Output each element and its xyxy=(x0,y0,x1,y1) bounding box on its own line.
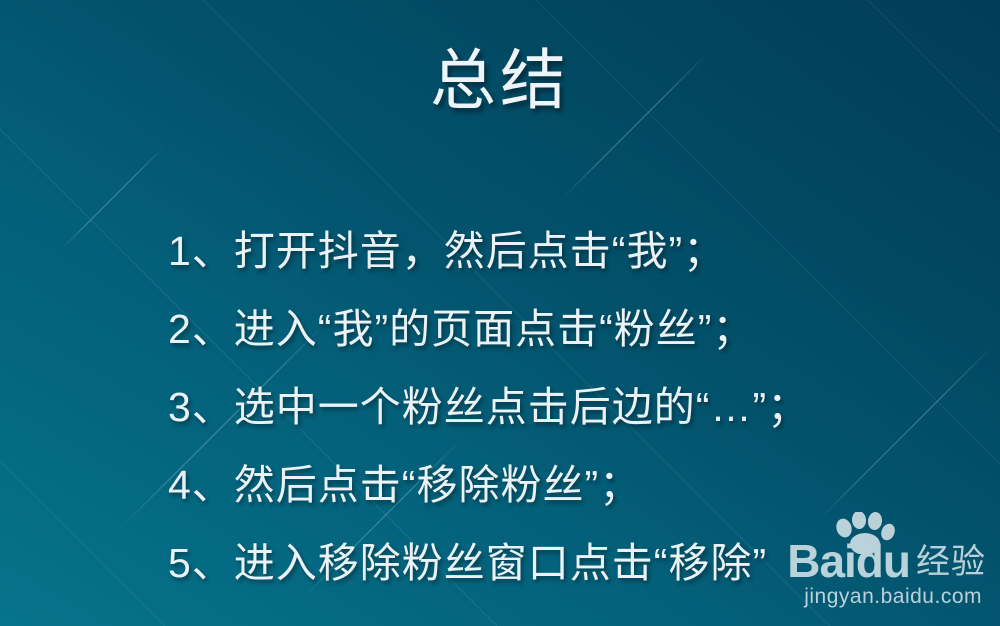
steps-list: 1、打开抖音，然后点击“我”； 2、进入“我”的页面点击“粉丝”； 3、选中一个… xyxy=(168,212,988,602)
decorative-streak xyxy=(60,144,167,251)
presentation-slide: 总结 1、打开抖音，然后点击“我”； 2、进入“我”的页面点击“粉丝”； 3、选… xyxy=(0,0,1000,626)
list-item: 2、进入“我”的页面点击“粉丝”； xyxy=(168,290,988,368)
list-item: 4、然后点击“移除粉丝”； xyxy=(168,446,988,524)
list-item: 3、选中一个粉丝点击后边的“…”； xyxy=(168,368,988,446)
list-item: 1、打开抖音，然后点击“我”； xyxy=(168,212,988,290)
list-item: 5、进入移除粉丝窗口点击“移除” xyxy=(168,524,988,602)
slide-title: 总结 xyxy=(0,44,1000,117)
